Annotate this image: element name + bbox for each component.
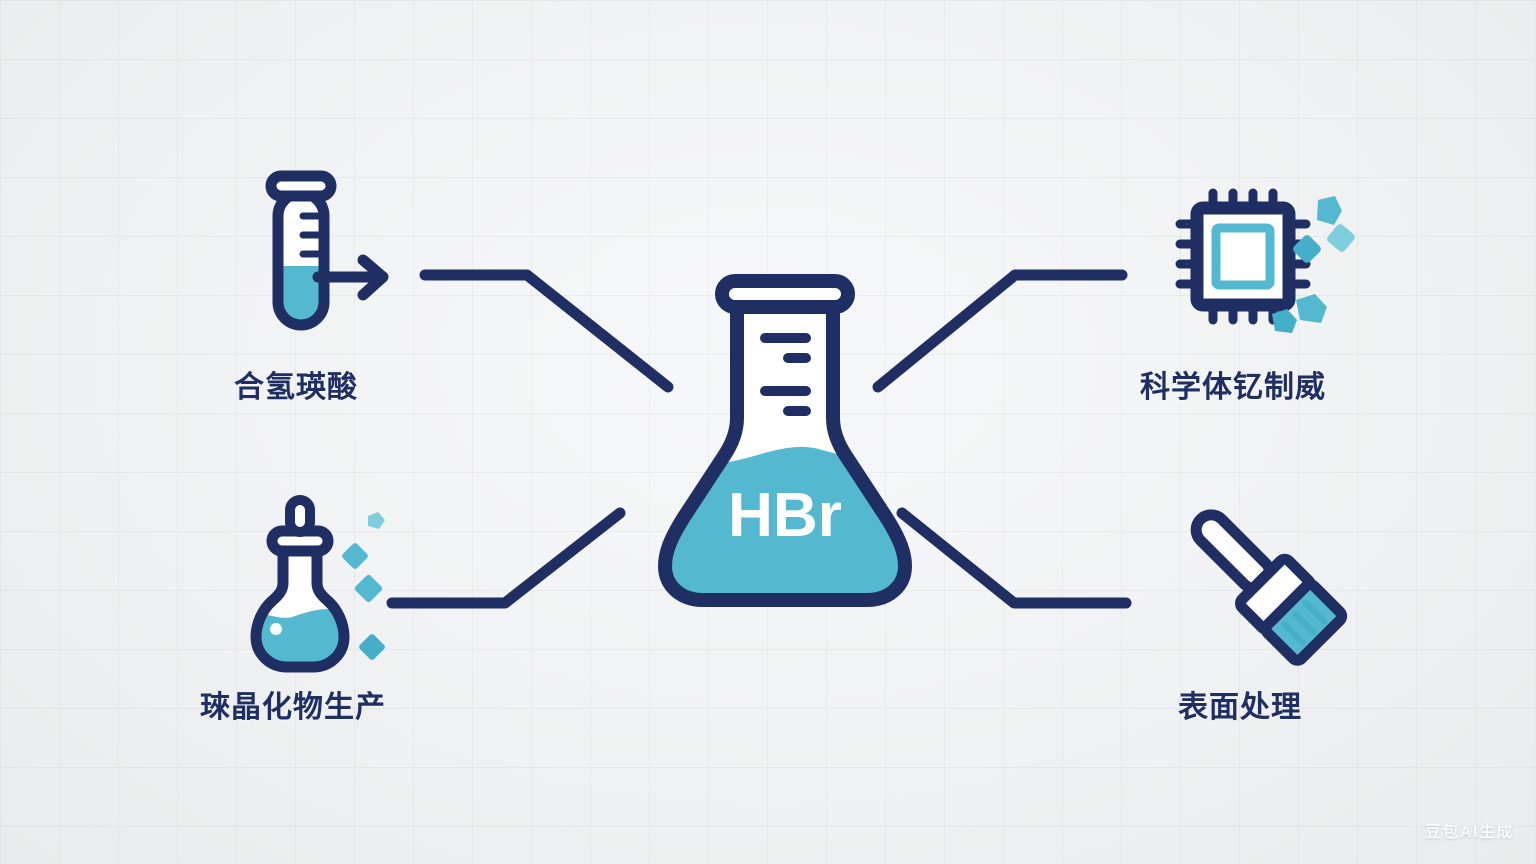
node-label-surface-treatment: 表面处理: [1178, 693, 1302, 723]
diagram-canvas: HBr 合氢瑛酸 琜晶化物生产 科学体钇制威 表面处理 豆包AI生成: [0, 0, 1536, 864]
node-label-synthesis: 合氢瑛酸: [234, 373, 358, 403]
node-label-crystal-production: 琜晶化物生产: [200, 693, 386, 723]
node-label-electronic-chemicals: 科学体钇制威: [1140, 373, 1326, 403]
ai-watermark: 豆包AI生成: [1425, 818, 1514, 842]
erlenmeyer-flask-icon: HBr: [0, 0, 1536, 864]
flask-formula-label: HBr: [728, 481, 842, 550]
